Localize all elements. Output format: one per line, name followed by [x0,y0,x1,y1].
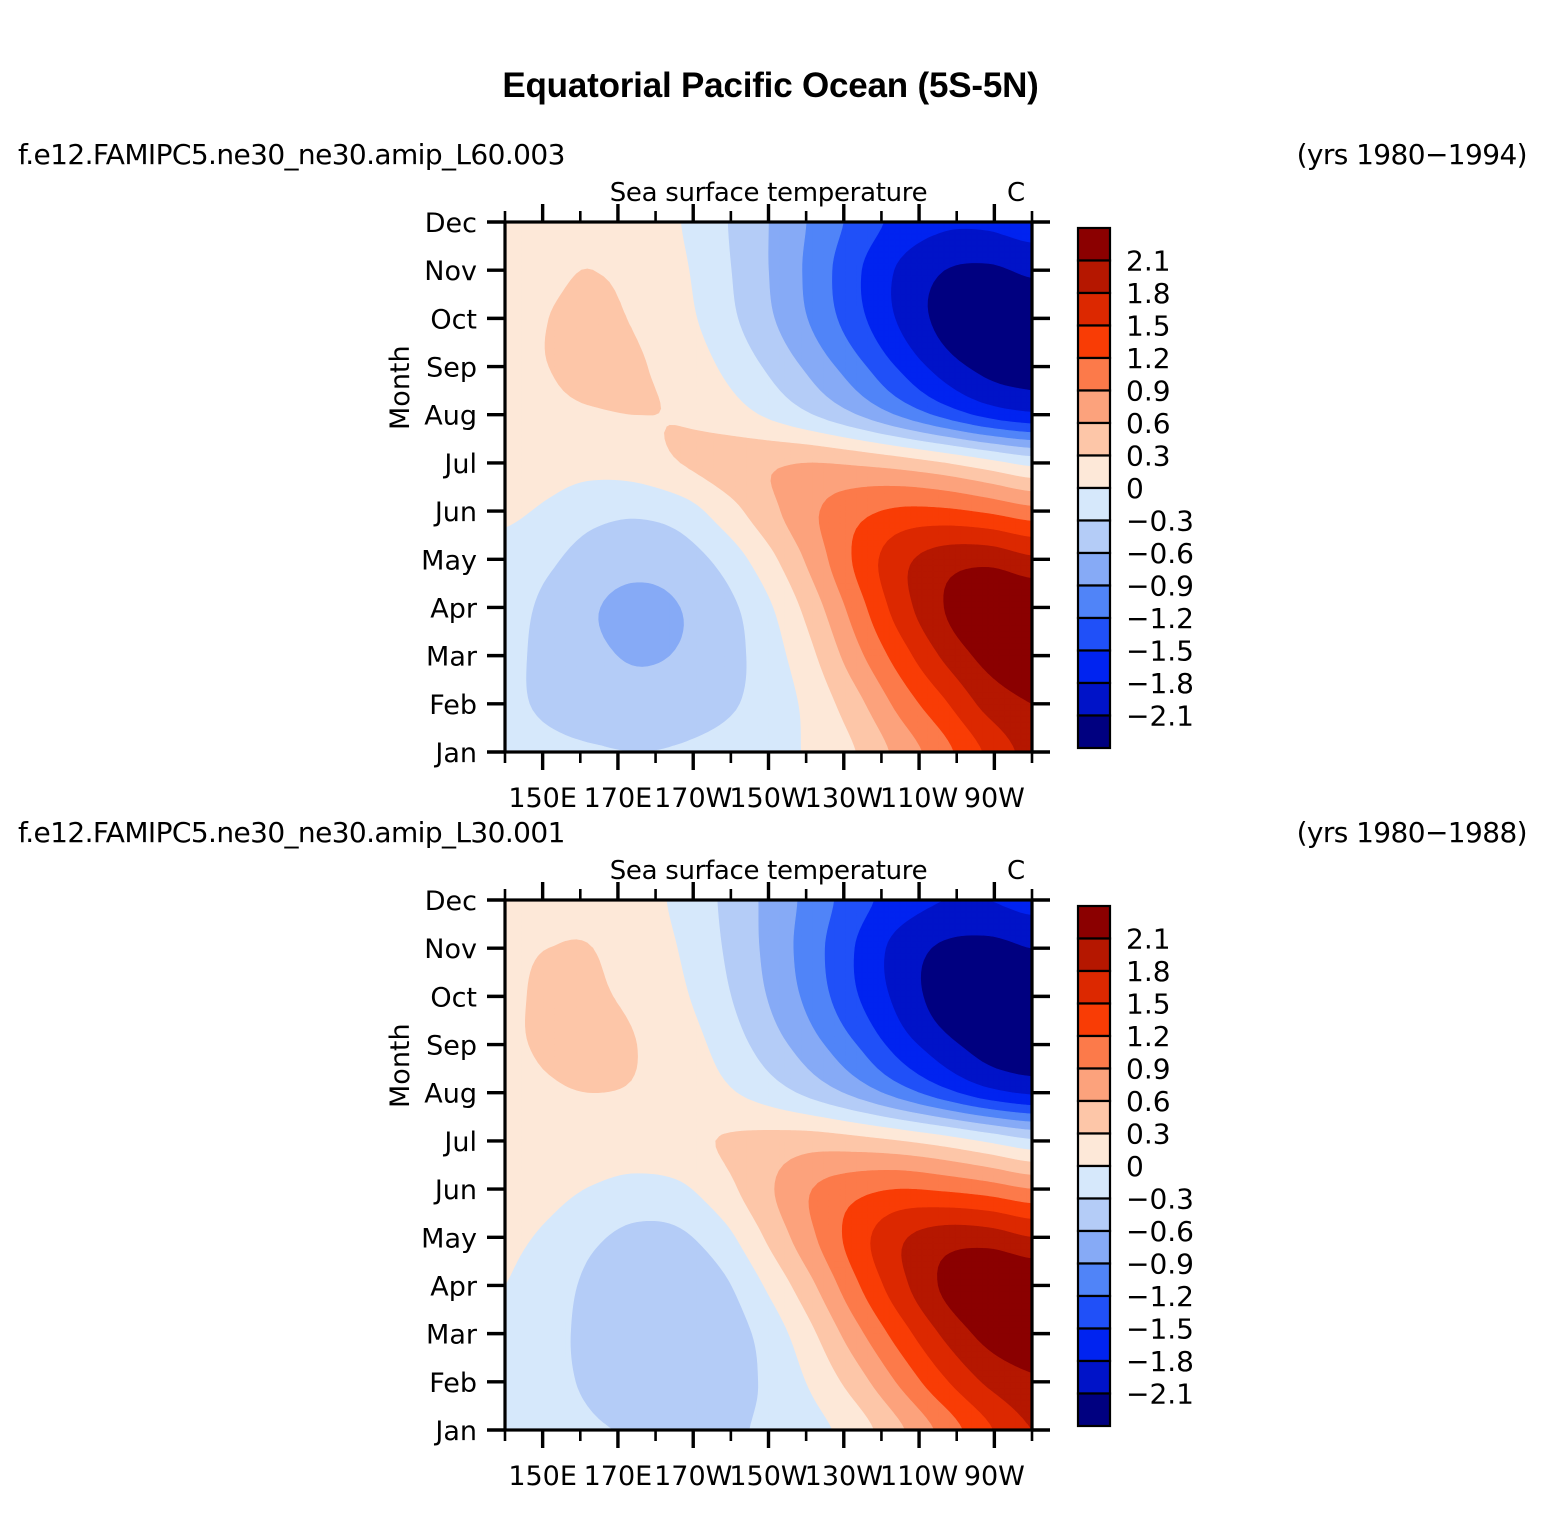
svg-text:Sep: Sep [426,1031,477,1062]
svg-text:1.2: 1.2 [1126,1020,1171,1053]
svg-text:130W: 130W [805,1461,883,1488]
svg-text:Aug: Aug [424,401,477,432]
svg-text:−1.2: −1.2 [1126,1280,1194,1313]
svg-text:May: May [421,1223,477,1254]
svg-text:170W: 170W [654,783,732,810]
svg-text:1.5: 1.5 [1126,988,1171,1021]
svg-text:1.8: 1.8 [1126,955,1171,988]
svg-text:110W: 110W [880,1461,958,1488]
svg-text:−1.5: −1.5 [1126,1313,1194,1346]
svg-text:Jun: Jun [433,497,477,528]
svg-text:0.3: 0.3 [1126,440,1171,473]
svg-text:Jan: Jan [433,738,477,769]
svg-text:90W: 90W [964,783,1025,810]
svg-text:0.3: 0.3 [1126,1118,1171,1151]
svg-text:1.2: 1.2 [1126,342,1171,375]
svg-text:Nov: Nov [424,934,477,965]
svg-text:Oct: Oct [430,982,477,1013]
svg-text:Dec: Dec [425,886,477,917]
contour-plot-2: 150E170E170W150W130W110W90WJanFebMarAprM… [0,808,1541,1488]
contour-plot-1: 150E170E170W150W130W110W90WJanFebMarAprM… [0,130,1541,810]
svg-text:Dec: Dec [425,208,477,239]
svg-text:150E: 150E [508,1461,577,1488]
svg-text:May: May [421,545,477,576]
svg-text:−1.8: −1.8 [1126,667,1194,700]
svg-text:−2.1: −2.1 [1126,700,1194,733]
svg-text:150E: 150E [508,783,577,810]
svg-text:−0.3: −0.3 [1126,1183,1194,1216]
svg-text:Sep: Sep [426,353,477,384]
svg-text:−0.6: −0.6 [1126,537,1194,570]
page-title: Equatorial Pacific Ocean (5S-5N) [0,66,1541,106]
svg-text:150W: 150W [729,1461,807,1488]
svg-text:Jul: Jul [442,449,477,480]
svg-text:Apr: Apr [430,1271,478,1302]
svg-text:Nov: Nov [424,256,477,287]
svg-text:0.6: 0.6 [1126,1085,1171,1118]
svg-text:0.9: 0.9 [1126,375,1171,408]
svg-text:Oct: Oct [430,304,477,335]
svg-text:−2.1: −2.1 [1126,1378,1194,1411]
svg-text:170E: 170E [584,783,653,810]
svg-text:Mar: Mar [426,642,478,673]
svg-text:Jan: Jan [433,1416,477,1447]
svg-text:2.1: 2.1 [1126,245,1171,278]
svg-text:1.8: 1.8 [1126,277,1171,310]
svg-text:150W: 150W [729,783,807,810]
svg-text:0: 0 [1126,1150,1144,1183]
svg-text:Aug: Aug [424,1079,477,1110]
svg-text:0.9: 0.9 [1126,1053,1171,1086]
svg-text:Feb: Feb [429,1368,477,1399]
svg-text:−1.8: −1.8 [1126,1345,1194,1378]
svg-text:Apr: Apr [430,593,478,624]
svg-text:0: 0 [1126,472,1144,505]
svg-text:−1.2: −1.2 [1126,602,1194,635]
svg-text:90W: 90W [964,1461,1025,1488]
svg-text:130W: 130W [805,783,883,810]
svg-text:110W: 110W [880,783,958,810]
svg-text:170W: 170W [654,1461,732,1488]
svg-text:−0.9: −0.9 [1126,1248,1194,1281]
svg-text:1.5: 1.5 [1126,310,1171,343]
svg-text:−0.6: −0.6 [1126,1215,1194,1248]
svg-text:Jul: Jul [442,1127,477,1158]
svg-text:170E: 170E [584,1461,653,1488]
svg-text:2.1: 2.1 [1126,923,1171,956]
svg-text:0.6: 0.6 [1126,407,1171,440]
svg-text:Jun: Jun [433,1175,477,1206]
svg-text:Feb: Feb [429,690,477,721]
svg-text:−0.3: −0.3 [1126,505,1194,538]
svg-text:−1.5: −1.5 [1126,635,1194,668]
svg-text:Mar: Mar [426,1320,478,1351]
svg-text:−0.9: −0.9 [1126,570,1194,603]
